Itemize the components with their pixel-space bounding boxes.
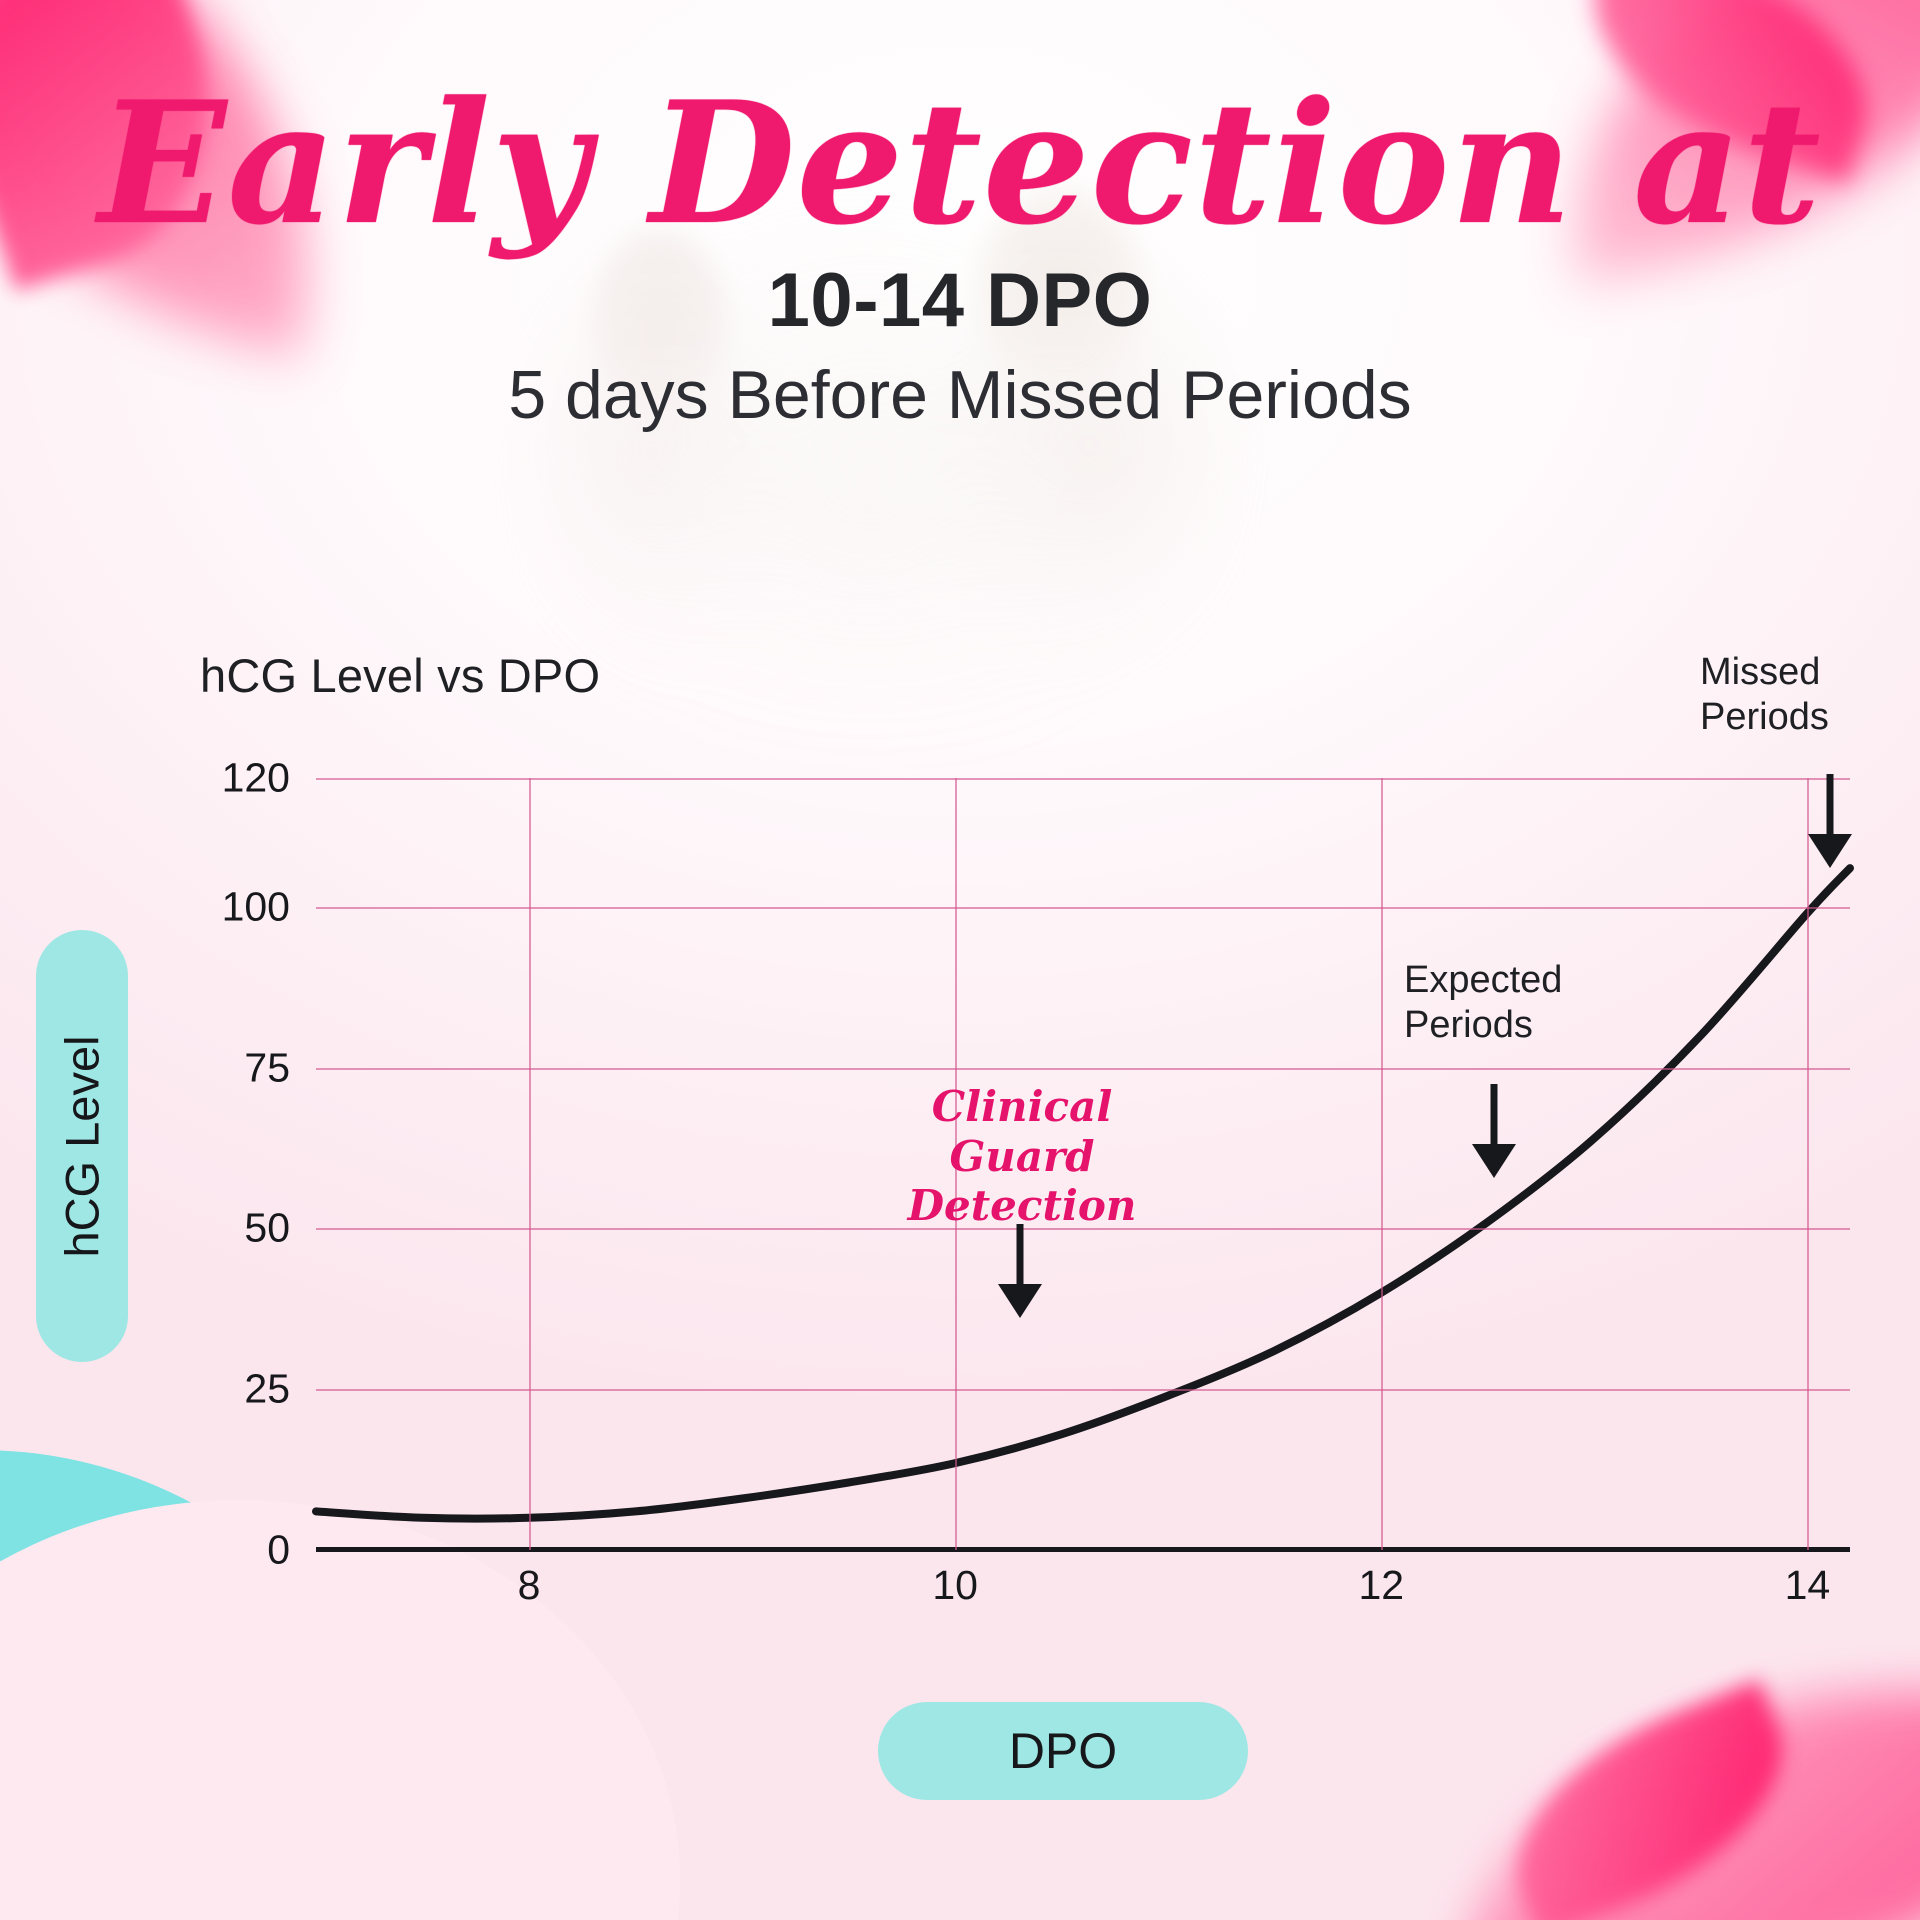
y-axis-tick-label: 0 xyxy=(30,1527,290,1574)
gridline-vertical xyxy=(1807,778,1809,1550)
y-axis-label-text: hCG Level xyxy=(55,1035,110,1257)
down-arrow-icon xyxy=(1800,772,1860,870)
annotation-missed-periods: Missed Periods xyxy=(1700,650,1920,740)
annotation-missed-periods-line1: Missed xyxy=(1700,650,1920,695)
down-arrow-icon xyxy=(990,1222,1050,1320)
gridline-horizontal xyxy=(316,778,1850,780)
annotation-clinical-guard: Clinical Guard Detection xyxy=(862,1082,1182,1231)
x-axis-tick-label: 10 xyxy=(855,1562,1055,1609)
gridline-horizontal xyxy=(316,1068,1850,1070)
y-axis-tick-label: 100 xyxy=(30,883,290,930)
gridline-vertical xyxy=(529,778,531,1550)
poster-canvas: Early Detection at 10-14 DPO 5 days Befo… xyxy=(0,0,1920,1920)
annotation-expected-periods-line2: Periods xyxy=(1404,1003,1704,1048)
gridline-vertical xyxy=(1381,778,1383,1550)
down-arrow-icon xyxy=(1464,1082,1524,1180)
y-axis-tick-label: 25 xyxy=(30,1366,290,1413)
chart-region: hCG Level vs DPO 02550751001208101214 Cl… xyxy=(0,0,1920,1920)
annotation-clinical-guard-line1: Clinical Guard xyxy=(862,1082,1182,1181)
chart-title: hCG Level vs DPO xyxy=(200,648,600,703)
gridline-horizontal xyxy=(316,1389,1850,1391)
x-axis-label-pill: DPO xyxy=(878,1702,1248,1800)
annotation-missed-periods-line2: Periods xyxy=(1700,695,1920,740)
annotation-expected-periods: Expected Periods xyxy=(1404,958,1704,1048)
annotation-expected-periods-line1: Expected xyxy=(1404,958,1704,1003)
x-axis-tick-label: 12 xyxy=(1281,1562,1481,1609)
x-axis-tick-label: 14 xyxy=(1707,1562,1907,1609)
gridline-horizontal xyxy=(316,907,1850,909)
y-axis-label-pill: hCG Level xyxy=(36,930,128,1362)
x-axis-tick-label: 8 xyxy=(429,1562,629,1609)
y-axis-tick-label: 120 xyxy=(30,755,290,802)
